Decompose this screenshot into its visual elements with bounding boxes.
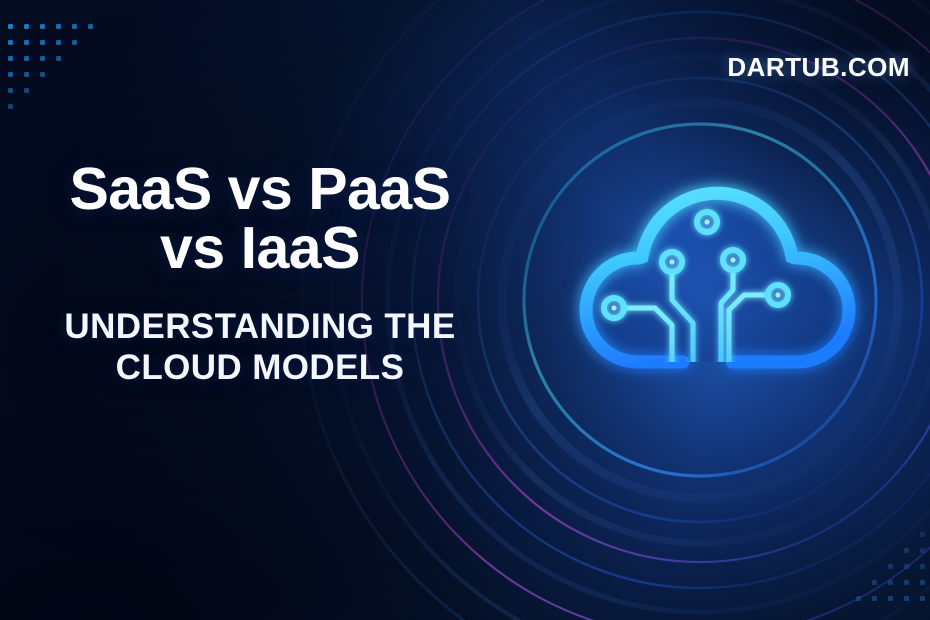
decorative-dot [920,580,925,585]
decorative-dot [904,596,909,601]
decorative-dot [24,40,29,45]
title-block: SaaS vs PaaS vs IaaS UNDERSTANDING THE C… [0,160,520,389]
decorative-dot [72,40,77,45]
decorative-dot [88,24,93,29]
cloud-icon-container [520,140,920,470]
page-subtitle: UNDERSTANDING THE CLOUD MODELS [0,306,520,389]
decorative-dot [40,56,45,61]
decorative-dot [40,40,45,45]
decorative-dot [72,24,77,29]
decorative-dot [888,564,893,569]
decorative-dot [888,580,893,585]
poster-canvas: DARTUB.COM SaaS vs PaaS vs IaaS UNDERSTA… [0,0,930,620]
cloud-circuit-tails [693,350,721,470]
decorative-dot [56,24,61,29]
decorative-dot [24,72,29,77]
subhead-line-1: UNDERSTANDING THE [64,307,455,346]
subhead-line-2: CLOUD MODELS [0,347,520,388]
cloud-circuit-icon [520,140,920,470]
decorative-dot [40,72,45,77]
decorative-dot [872,596,877,601]
decorative-dot [920,564,925,569]
decorative-dot [24,24,29,29]
page-title: SaaS vs PaaS vs IaaS [0,160,520,278]
decorative-dot [24,56,29,61]
decorative-dot [8,88,13,93]
decorative-dot [8,24,13,29]
decorative-dot [40,24,45,29]
decorative-dot [888,596,893,601]
decorative-dot [56,56,61,61]
brand-logo: DARTUB.COM [727,52,910,83]
decorative-dot [904,580,909,585]
decorative-dot [856,596,861,601]
decorative-dot [8,72,13,77]
decorative-dot [56,40,61,45]
decorative-dot [24,88,29,93]
decorative-dot [8,40,13,45]
decorative-dot [904,548,909,553]
decorative-dot [8,104,13,109]
decorative-dot [920,596,925,601]
decorative-dot [920,548,925,553]
decorative-dot [8,56,13,61]
decorative-dot [920,532,925,537]
decorative-dot [904,564,909,569]
headline-line-1: SaaS vs PaaS [69,156,450,222]
decorative-dot [872,580,877,585]
headline-line-2: vs IaaS [0,219,520,278]
